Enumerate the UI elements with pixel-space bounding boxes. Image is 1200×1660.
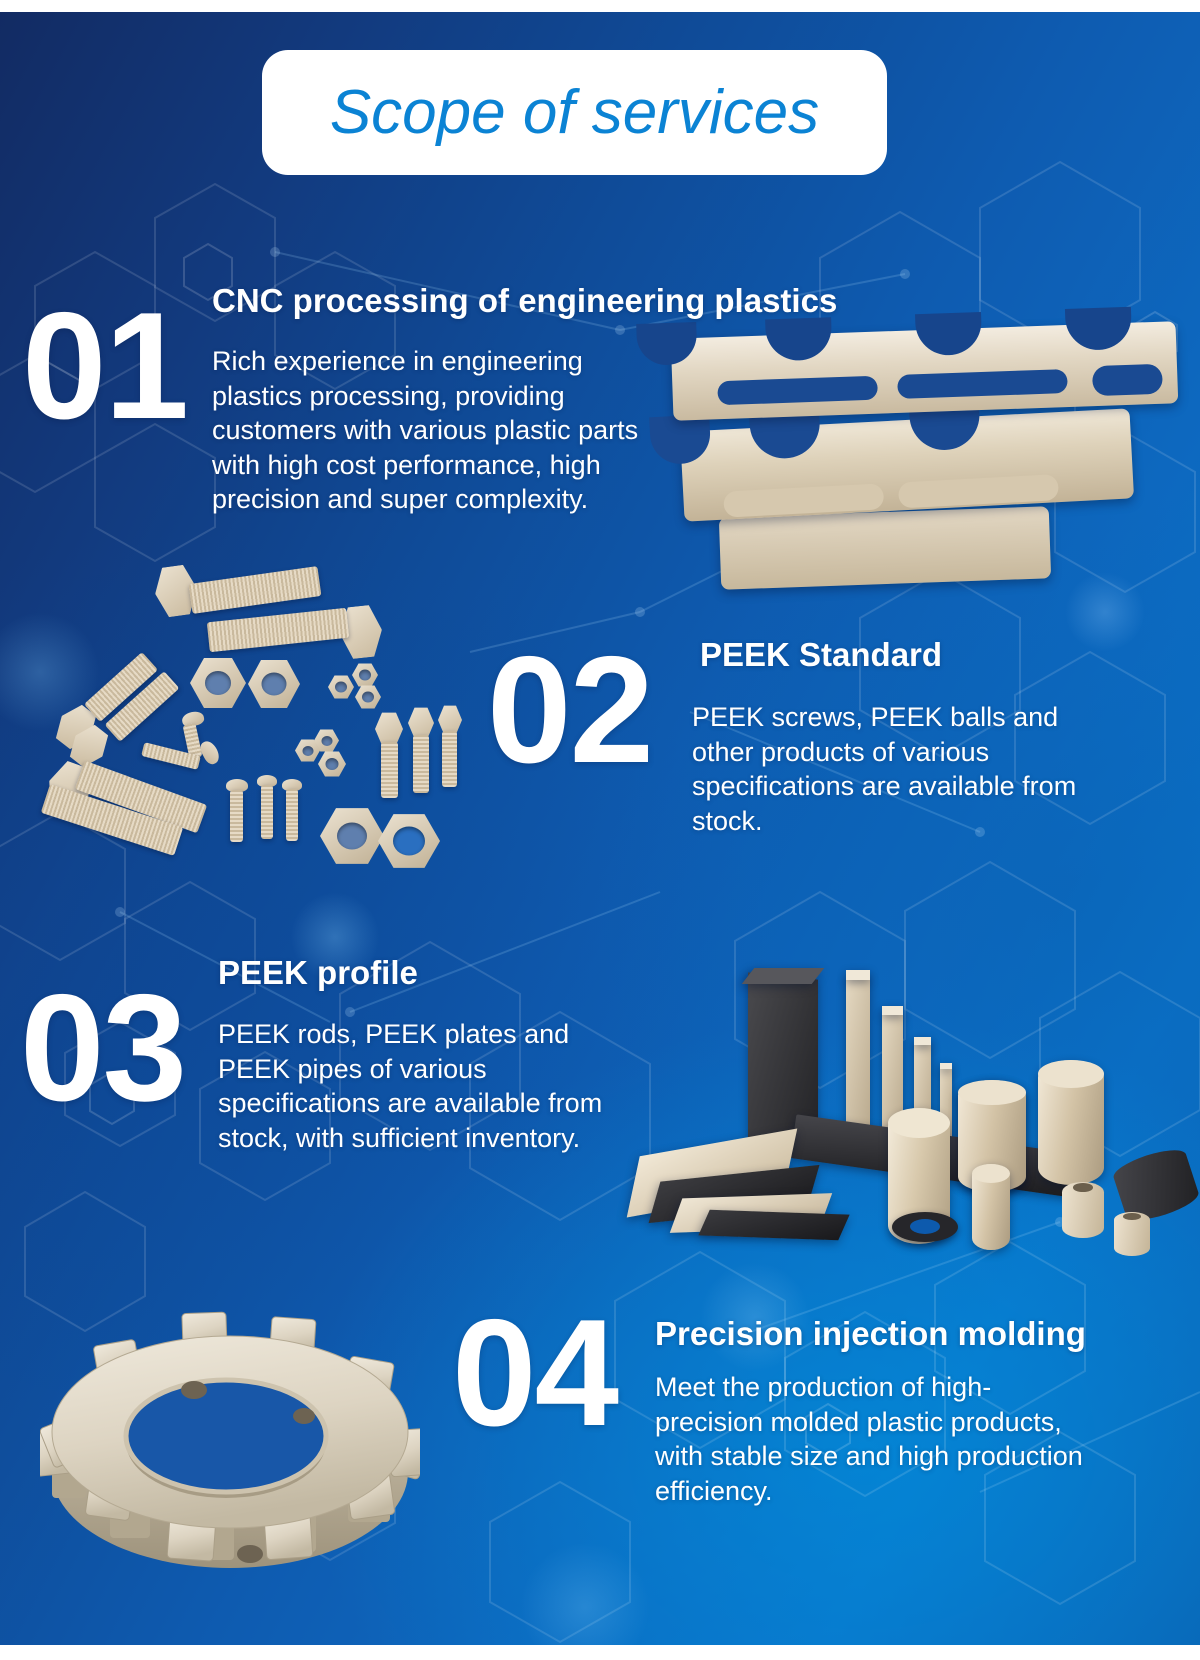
section-number-04: 04	[452, 1297, 617, 1449]
poster-background: Scope of services 01 CNC processing of e…	[0, 12, 1200, 1645]
section-body-04: Meet the production of high-precision mo…	[655, 1370, 1095, 1508]
service-section-04: 04 Precision injection molding Meet the …	[0, 12, 1200, 1645]
section-title-04: Precision injection molding	[655, 1315, 1086, 1353]
scope-of-services-poster: Scope of services 01 CNC processing of e…	[0, 0, 1200, 1660]
